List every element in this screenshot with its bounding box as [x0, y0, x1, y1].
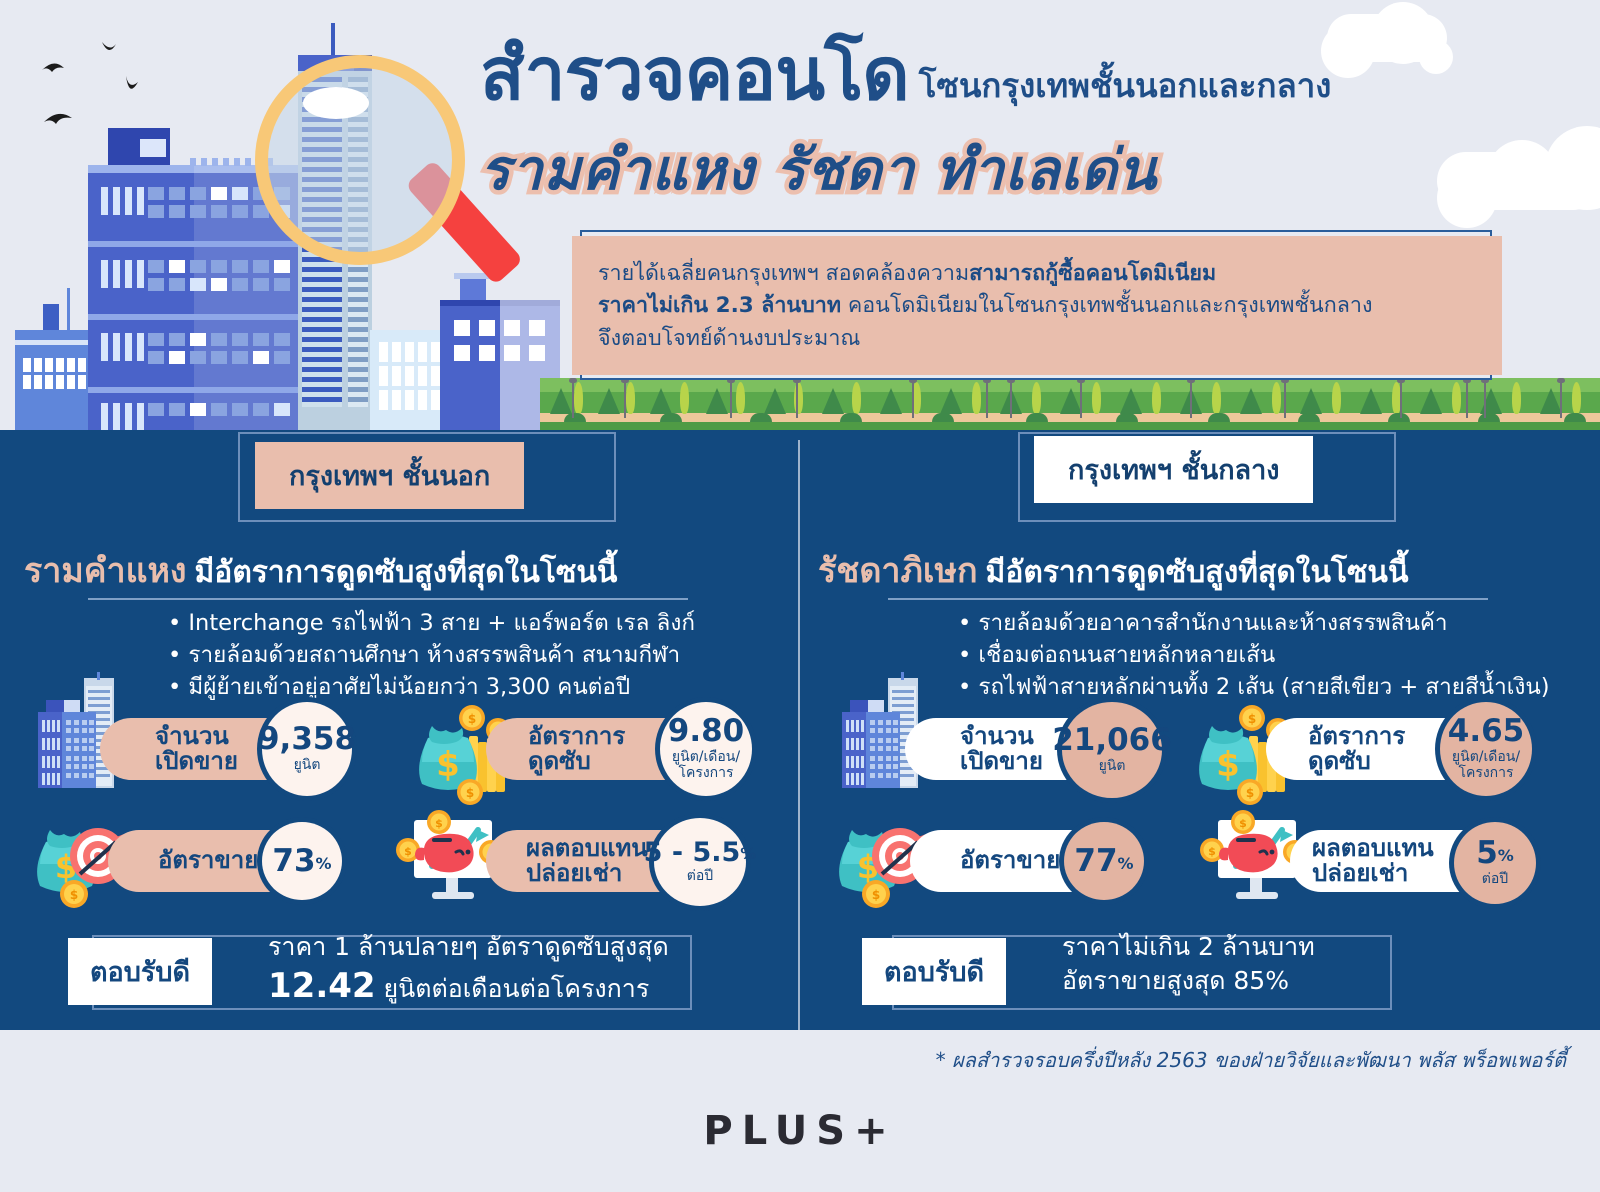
infographic-root: สำรวจคอนโดโซนกรุงเทพชั้นนอกและกลาง รามคำ…: [0, 0, 1600, 1192]
stat-label: ดูดซับ: [528, 747, 591, 775]
stat-unit: ยูนิต: [294, 758, 321, 774]
list-item: • เชื่อมต่อถนนสายหลักหลายเส้น: [958, 640, 1550, 672]
magnifier-icon: [255, 55, 465, 265]
stat-unit: ยูนิต: [1099, 759, 1126, 775]
svg-text:$: $: [404, 845, 412, 858]
good-line-1: ราคาไม่เกิน 2 ล้านบาท: [1062, 930, 1315, 964]
callout-line-2: ราคาไม่เกิน 2.3 ล้านบาท คอนโดมิเนียมในโซ…: [598, 290, 1476, 322]
list-item: • Interchange รถไฟฟ้า 3 สาย + แอร์พอร์ต …: [168, 608, 695, 640]
stat-label: เปิดขาย: [155, 747, 238, 775]
title-main: สำรวจคอนโด: [480, 32, 909, 117]
stat-unit: ต่อปี: [687, 869, 713, 885]
stat-bubble: 77%: [1064, 822, 1144, 900]
column-heading-right: รัชดาภิเษกมีอัตราการดูดซับสูงที่สุดในโซน…: [818, 543, 1408, 597]
good-line-2: 12.42 ยูนิตต่อเดือนต่อโครงการ: [268, 964, 669, 1010]
svg-text:$: $: [466, 786, 474, 800]
title-sub: โซนกรุงเทพชั้นนอกและกลาง: [919, 66, 1332, 105]
stat-unit: ยูนิต/เดือน/โครงการ: [1452, 750, 1520, 781]
stat-label: จำนวน: [155, 722, 229, 750]
svg-text:$: $: [70, 888, 78, 902]
svg-text:$: $: [1208, 845, 1216, 858]
stat-label: ดูดซับ: [1308, 747, 1371, 775]
footnote: * ผลสำรวจรอบครึ่งปีหลัง 2563 ของฝ่ายวิจั…: [936, 1044, 1566, 1076]
stat-label: อัตราขาย: [158, 846, 258, 874]
summary-callout: รายได้เฉลี่ยคนกรุงเทพฯ สอดคล้องความสามาร…: [572, 236, 1502, 375]
bullet-list-left: • Interchange รถไฟฟ้า 3 สาย + แอร์พอร์ต …: [168, 608, 695, 704]
footer: * ผลสำรวจรอบครึ่งปีหลัง 2563 ของฝ่ายวิจั…: [0, 1030, 1600, 1192]
stat-bubble: 73%: [262, 822, 342, 900]
good-tag-left: ตอบรับดี: [68, 938, 212, 1005]
list-item: • รายล้อมด้วยสถานศึกษา ห้างสรรพสินค้า สน…: [168, 640, 695, 672]
plus-logo: PLUS+: [0, 1108, 1600, 1154]
stat-label: ปล่อยเช่า: [526, 859, 622, 887]
tab-outer-bangkok[interactable]: กรุงเทพฯ ชั้นนอก: [255, 442, 524, 509]
stat-bubble: 9,358 ยูนิต: [262, 702, 352, 796]
stat-value: 9,358: [258, 724, 356, 755]
stat-bubble: 4.65 ยูนิต/เดือน/โครงการ: [1440, 702, 1532, 796]
stat-label: อัตราขาย: [960, 846, 1060, 874]
stat-unit: ยูนิต/เดือน/โครงการ: [672, 750, 740, 781]
bullet-list-right: • รายล้อมด้วยอาคารสำนักงานและห้างสรรพสิน…: [958, 608, 1550, 704]
column-heading-left: รามคำแหงมีอัตราการดูดซับสูงที่สุดในโซนนี…: [24, 543, 617, 597]
good-text-left: ราคา 1 ล้านปลายๆ อัตราดูดซับสูงสุด 12.42…: [268, 930, 669, 1009]
callout-line-1: รายได้เฉลี่ยคนกรุงเทพฯ สอดคล้องความสามาร…: [598, 258, 1476, 290]
stat-value: 4.65: [1448, 716, 1525, 747]
svg-text:$: $: [436, 745, 460, 785]
svg-text:$: $: [1216, 745, 1240, 785]
good-text-right: ราคาไม่เกิน 2 ล้านบาท อัตราขายสูงสุด 85%: [1062, 930, 1315, 997]
callout-line-3: จึงตอบโจทย์ด้านงบประมาณ: [598, 323, 1476, 355]
good-line-1: ราคา 1 ล้านปลายๆ อัตราดูดซับสูงสุด: [268, 930, 669, 964]
stat-label: อัตราการ: [1308, 722, 1405, 750]
svg-text:$: $: [1246, 786, 1254, 800]
hero-subtitle: รามคำแหง รัชดา ทำเลเด่น: [480, 125, 1520, 214]
stat-value: 73%: [272, 846, 331, 877]
stat-value: 5 - 5.5%: [644, 839, 757, 866]
divider-rule-right: [888, 598, 1488, 600]
tab-mid-bangkok[interactable]: กรุงเทพฯ ชั้นกลาง: [1034, 436, 1313, 503]
list-item: • รายล้อมด้วยอาคารสำนักงานและห้างสรรพสิน…: [958, 608, 1550, 640]
good-tag-right: ตอบรับดี: [862, 938, 1006, 1005]
hero-title-block: สำรวจคอนโดโซนกรุงเทพชั้นนอกและกลาง รามคำ…: [480, 38, 1520, 214]
stat-bubble: 21,066 ยูนิต: [1062, 702, 1162, 798]
stat-label: เปิดขาย: [960, 747, 1043, 775]
page-title: สำรวจคอนโดโซนกรุงเทพชั้นนอกและกลาง: [480, 38, 1520, 111]
landscape-strip: [540, 378, 1600, 430]
stat-label: ปล่อยเช่า: [1312, 859, 1408, 887]
building-small-icon: [15, 330, 95, 430]
stat-value: 9.80: [668, 716, 745, 747]
stat-value: 5%: [1476, 838, 1514, 869]
stat-label: ผลตอบแทน: [526, 834, 648, 862]
svg-text:$: $: [1248, 712, 1256, 726]
stat-label: อัตราการ: [528, 722, 625, 750]
stat-bubble: 9.80 ยูนิต/เดือน/โครงการ: [660, 702, 752, 796]
stat-bubble: 5 - 5.5% ต่อปี: [654, 818, 746, 906]
zone-desc-right: มีอัตราการดูดซับสูงที่สุดในโซนนี้: [986, 555, 1409, 590]
svg-text:$: $: [1239, 817, 1247, 830]
column-divider: [798, 440, 800, 1040]
stat-label: จำนวน: [960, 722, 1034, 750]
svg-text:$: $: [872, 888, 880, 902]
svg-text:$: $: [435, 817, 443, 830]
stat-value: 77%: [1074, 846, 1133, 877]
stat-bubble: 5% ต่อปี: [1454, 822, 1536, 904]
stat-value: 21,066: [1052, 725, 1172, 756]
zone-name-right: รัชดาภิเษก: [818, 551, 978, 591]
stat-label: ผลตอบแทน: [1312, 834, 1434, 862]
zone-name-left: รามคำแหง: [24, 551, 187, 591]
good-line-2: อัตราขายสูงสุด 85%: [1062, 964, 1315, 998]
divider-rule-left: [88, 598, 688, 600]
svg-text:$: $: [468, 712, 476, 726]
stat-unit: ต่อปี: [1482, 872, 1508, 888]
zone-desc-left: มีอัตราการดูดซับสูงที่สุดในโซนนี้: [195, 555, 618, 590]
